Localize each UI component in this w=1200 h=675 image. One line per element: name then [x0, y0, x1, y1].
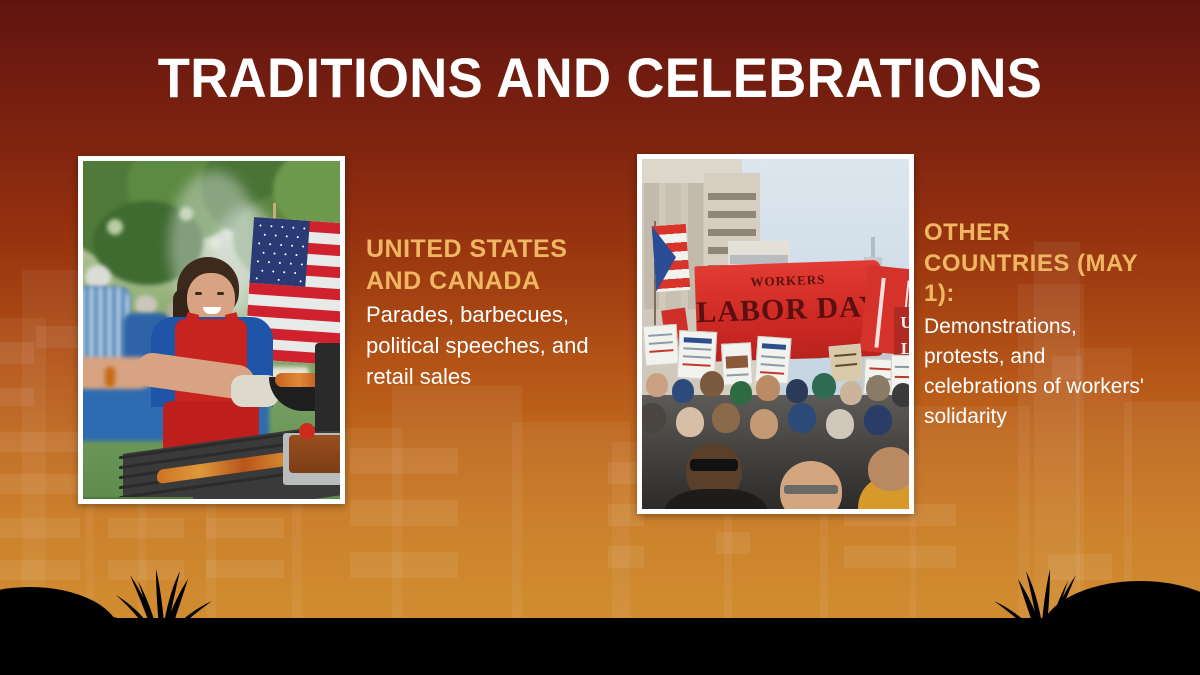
heading-other-countries: OTHER COUNTRIES (MAY 1):	[924, 218, 1156, 310]
building-window-row	[708, 211, 756, 218]
skyline-building	[512, 422, 630, 618]
foreground-person-head	[868, 447, 909, 491]
grill-lid	[315, 343, 340, 431]
text-block-other-countries: OTHER COUNTRIES (MAY 1): Demonstrations,…	[924, 218, 1156, 431]
foreground-ground	[0, 618, 1200, 675]
crowd-head	[646, 373, 668, 397]
crowd-head	[788, 403, 816, 433]
crowd-head	[864, 405, 892, 435]
slide-traditions-and-celebrations: TRADITIONS AND CELEBRATIONS	[0, 0, 1200, 675]
heading-united-states-and-canada: UNITED STATES AND CANADA	[366, 233, 614, 297]
skyline-window	[0, 518, 80, 538]
skyline-window	[844, 546, 956, 568]
tree-highlight	[107, 219, 123, 235]
eyeglasses	[784, 485, 838, 494]
background-person	[85, 265, 111, 289]
slide-title: TRADITIONS AND CELEBRATIONS	[36, 49, 1164, 108]
image-labor-day-rally: WORKERS LABOR DAY U L	[637, 154, 914, 514]
skyline-window	[350, 448, 458, 474]
crowd-head	[672, 379, 694, 403]
crowd-head	[756, 375, 780, 401]
crowd-head	[786, 379, 808, 403]
body-other-countries: Demonstrations, protests, and celebratio…	[924, 312, 1156, 431]
sunglasses	[690, 459, 738, 471]
crowd-head	[892, 383, 909, 407]
banner-text-workers: WORKERS	[695, 270, 881, 292]
crowd-head	[840, 381, 862, 405]
body-united-states-and-canada: Parades, barbecues, political speeches, …	[366, 299, 614, 393]
skyline-window	[350, 552, 458, 578]
crowd-head	[642, 403, 666, 433]
skyline-window	[0, 342, 34, 364]
crowd-head	[712, 403, 740, 433]
crowd-head	[730, 381, 752, 405]
banner-text-labor-day: LABOR DAY	[695, 290, 882, 330]
skyline-building	[0, 318, 46, 618]
tomato	[299, 423, 315, 439]
skyline-window	[716, 532, 750, 554]
text-block-united-states-and-canada: UNITED STATES AND CANADA Parades, barbec…	[366, 233, 614, 393]
background-person	[135, 295, 157, 315]
skyline-window	[108, 518, 184, 538]
skyline-window	[608, 546, 644, 568]
image-united-states-barbecue	[78, 156, 345, 504]
skyline-window	[206, 518, 284, 538]
crowd-head	[700, 371, 724, 397]
skyline-window	[0, 560, 80, 580]
skyline-window	[0, 474, 80, 494]
wristband	[105, 367, 115, 387]
crowd-head	[866, 375, 890, 401]
skyline-window	[0, 432, 80, 452]
building-window-row	[708, 229, 756, 236]
grass-foreground	[83, 497, 193, 499]
flag-triangle	[652, 224, 679, 291]
skyline-window	[0, 388, 34, 406]
protest-sign	[643, 324, 680, 366]
cook-eye	[195, 292, 202, 295]
cook-eye	[217, 292, 224, 295]
crowd-head	[812, 373, 836, 399]
building-window-row	[708, 193, 756, 200]
crowd-head	[676, 407, 704, 437]
crowd-head	[826, 409, 854, 439]
skyline-building	[392, 386, 522, 618]
protest-sign	[721, 342, 753, 386]
skyline-window	[350, 500, 458, 526]
protest-sign	[828, 344, 863, 383]
crowd-head	[750, 409, 778, 439]
union-banner-letter: U	[894, 313, 909, 333]
skyline-window	[36, 326, 78, 348]
flag-canton	[249, 217, 309, 287]
grill-tray-food	[289, 435, 340, 473]
